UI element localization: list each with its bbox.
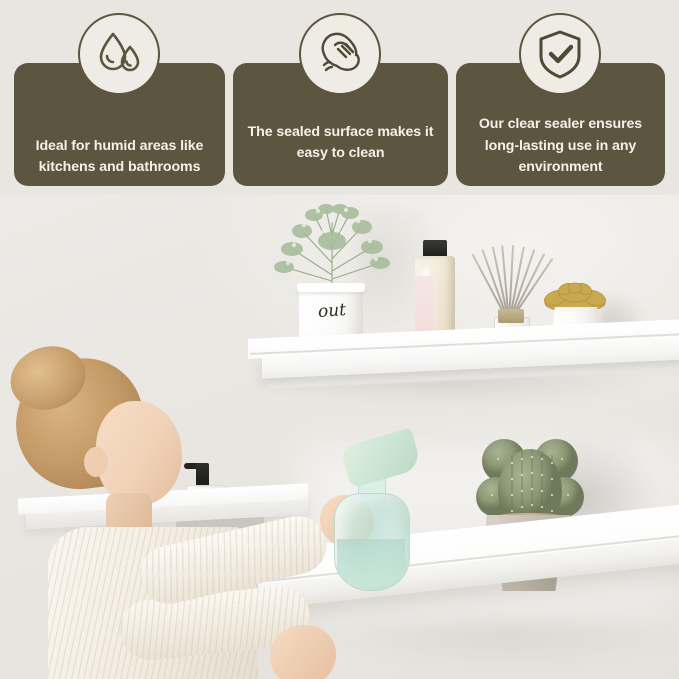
feature-card-row: Ideal for humid areas like kitchens and … [0,0,679,195]
girl-face [96,401,182,505]
mint-spray-bottle [322,435,420,591]
feature-card-text: Ideal for humid areas like kitchens and … [18,136,221,179]
girl-ear [84,447,108,477]
girl-lower-hand [270,625,336,679]
product-infographic: Ideal for humid areas like kitchens and … [0,0,679,679]
feature-card-text: The sealed surface makes it easy to clea… [237,122,443,179]
plant-foliage-icon [274,201,390,293]
product-lifestyle-photo: out [0,195,679,679]
feature-card-text: Our clear sealer ensures long-lasting us… [460,114,661,179]
pot-rim [297,283,365,292]
spray-bottle-liquid [337,539,405,587]
child-girl [0,355,338,679]
hand-wiping-cloth-icon [299,13,381,95]
shield-check-icon [519,13,601,95]
spray-bottle-trigger [340,428,423,489]
water-droplet-icon [78,13,160,95]
